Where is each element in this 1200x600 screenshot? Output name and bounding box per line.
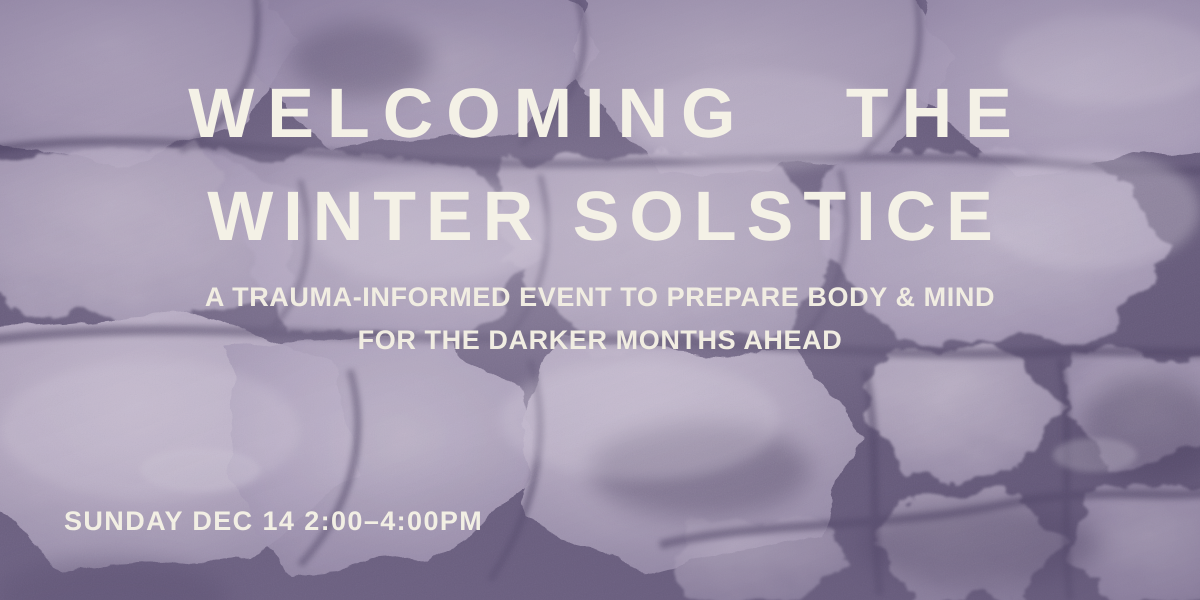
subtitle-line-2: FOR THE DARKER MONTHS AHEAD [0,327,1200,354]
banner-content: WELCOMING THE WINTER SOLSTICE A TRAUMA-I… [0,0,1200,600]
event-banner: WELCOMING THE WINTER SOLSTICE A TRAUMA-I… [0,0,1200,600]
subtitle-line-1: A TRAUMA-INFORMED EVENT TO PREPARE BODY … [0,284,1200,311]
headline-line-2: WINTER SOLSTICE [0,181,1200,251]
headline-line-1: WELCOMING THE [0,78,1200,148]
event-datetime: SUNDAY DEC 14 2:00–4:00PM [64,508,483,535]
